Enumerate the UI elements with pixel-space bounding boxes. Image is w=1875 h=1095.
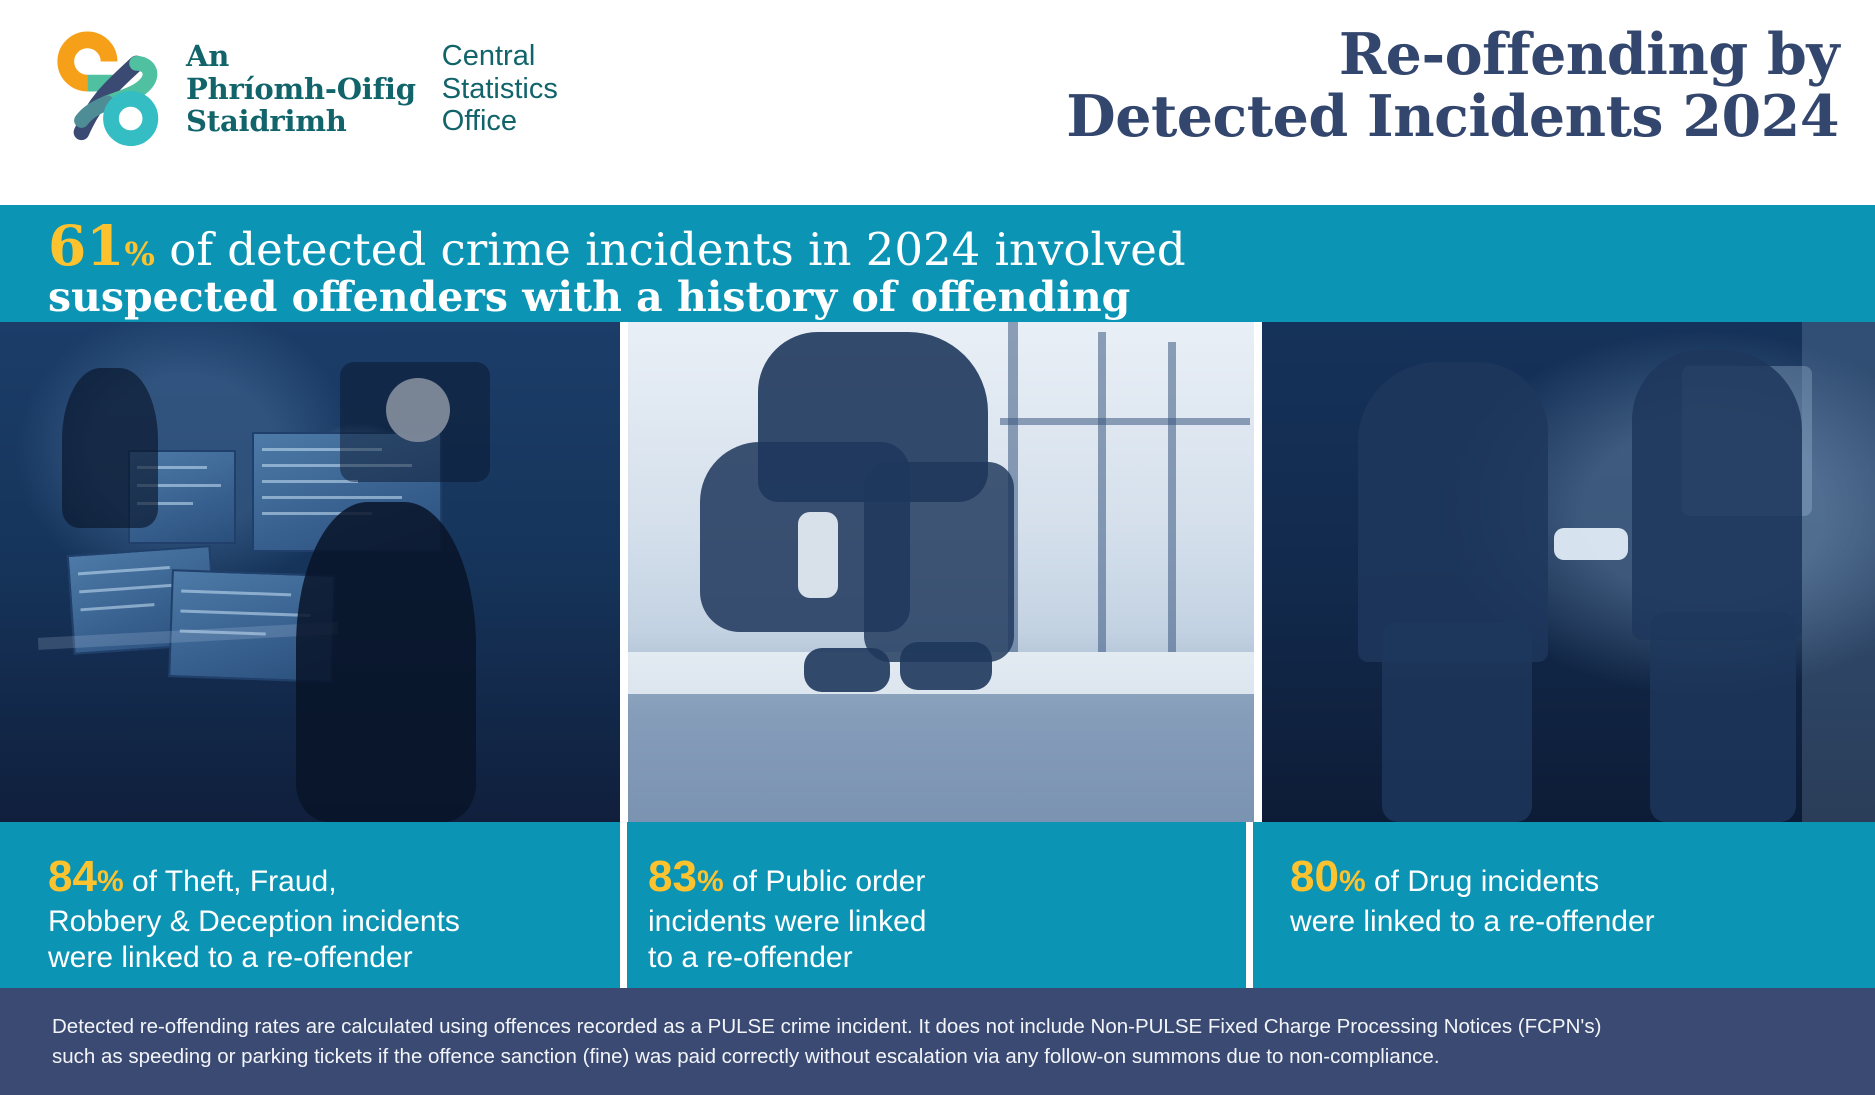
footnote-bar: Detected re-offending rates are calculat… [0,988,1875,1095]
public-order-seated-person-photo [628,322,1254,822]
headline-line-1: 61% of detected crime incidents in 2024 … [48,218,1186,273]
figure-right-legs [1650,612,1796,822]
caption-2-line-3: to a re-offender [648,941,853,974]
footnote-text: Detected re-offending rates are calculat… [52,1012,1835,1071]
fence-rail [1000,418,1250,425]
figure-left-legs [1382,622,1532,822]
fence-post-b [1098,332,1106,652]
caption-2-value: 83 [648,852,697,901]
headline-line-2: suspected offenders with a history of of… [48,277,1130,318]
logo-english-name: Central Statistics Office [442,40,558,137]
caption-3-value: 80 [1290,852,1339,901]
caption-band: 84% of Theft, Fraud, Robbery & Deception… [0,822,1875,988]
figure-right-body [1632,350,1802,640]
figure-left-body [1358,362,1548,662]
caption-3-line-1: of Drug incidents [1366,865,1599,898]
silhouette-foreground [296,502,476,822]
caption-1-line-1: of Theft, Fraud, [124,865,337,898]
logo-english-line-2: Statistics [442,73,558,105]
page-title-line-1: Re-offending by [1066,24,1839,86]
caption-1-symbol: % [97,865,124,898]
fence-post-c [1168,342,1176,652]
headline-banner: 61% of detected crime incidents in 2024 … [0,205,1875,322]
logo-english-line-3: Office [442,105,558,137]
page-title-line-2: Detected Incidents 2024 [1066,86,1839,148]
caption-2-line-1: of Public order [724,865,926,898]
caption-1-line-2: Robbery & Deception incidents [48,905,460,938]
caption-3-symbol: % [1339,865,1366,898]
shoe-right [900,642,992,690]
panel-divider-2 [1254,322,1262,822]
studio-lamp-body [340,362,490,482]
headline-stat-text: of detected crime incidents in 2024 invo… [155,223,1186,276]
headline-stat-symbol: % [125,235,155,273]
caption-drug: 80% of Drug incidents were linked to a r… [1246,822,1875,988]
logo-irish-name: An Phríomh-Oifig Staidrimh [186,40,416,137]
headline-stat-value: 61 [48,213,125,278]
footnote-line-1: Detected re-offending rates are calculat… [52,1012,1835,1042]
logo-english-line-1: Central [442,40,558,72]
photo-strip [0,322,1875,822]
cyber-crime-computers-photo [0,322,620,822]
caption-public-order: 83% of Public order incidents were linke… [620,822,1246,988]
logo-irish-line-1: An [186,40,416,72]
caption-2-symbol: % [697,865,724,898]
panel-divider-1 [620,322,628,822]
shoe-left [804,648,890,692]
page-title: Re-offending by Detected Incidents 2024 [1066,24,1839,147]
exchanged-item [1554,528,1628,560]
footnote-line-2: such as speeding or parking tickets if t… [52,1042,1835,1072]
caption-2-line-2: incidents were linked [648,905,926,938]
caption-3-line-2: were linked to a re-offender [1290,905,1655,938]
caption-theft-fraud: 84% of Theft, Fraud, Robbery & Deception… [0,822,620,988]
infographic-page: An Phríomh-Oifig Staidrimh Central Stati… [0,0,1875,1095]
header: An Phríomh-Oifig Staidrimh Central Stati… [0,0,1875,205]
person-legs [864,462,1014,662]
cso-percent-logo-icon [52,30,170,148]
logo-irish-line-3: Staidrimh [186,105,416,137]
caption-divider-1 [620,822,627,988]
bottle [798,512,838,598]
drug-deal-exchange-photo [1262,322,1875,822]
caption-1-line-3: were linked to a re-offender [48,941,413,974]
cso-logo: An Phríomh-Oifig Staidrimh Central Stati… [52,30,558,148]
pavement [628,694,1254,822]
caption-1-value: 84 [48,852,97,901]
logo-irish-line-2: Phríomh-Oifig [186,73,416,105]
caption-divider-2 [1246,822,1253,988]
wall-highlight [1802,322,1875,822]
silhouette-background [62,368,158,528]
